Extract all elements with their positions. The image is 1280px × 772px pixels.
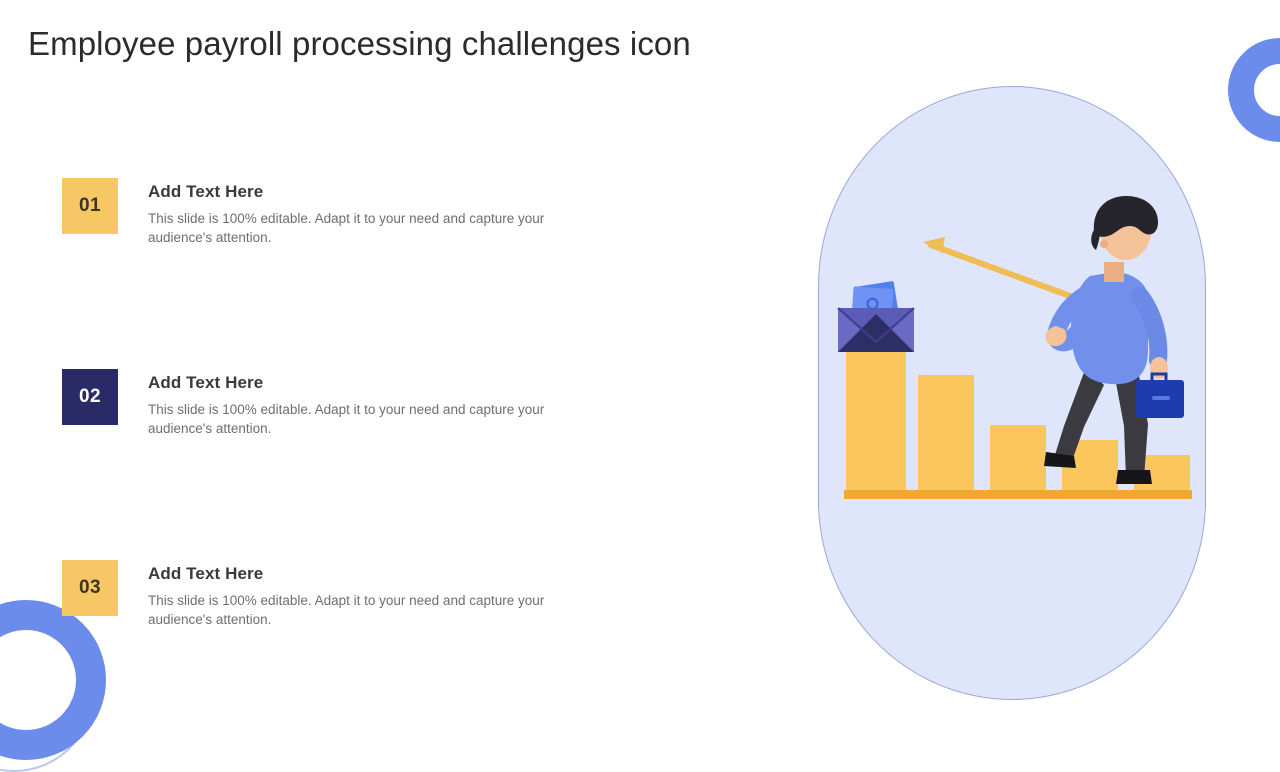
list-item-text: This slide is 100% editable. Adapt it to… xyxy=(148,210,580,247)
list-item-body: Add Text Here This slide is 100% editabl… xyxy=(148,560,580,629)
bullet-list: 01 Add Text Here This slide is 100% edit… xyxy=(62,178,622,629)
ring-decoration-top-right xyxy=(1228,38,1280,142)
illustration: $ xyxy=(818,86,1206,700)
list-item-heading: Add Text Here xyxy=(148,373,580,393)
briefcase-icon xyxy=(1136,374,1184,418)
money-envelope-icon: $ xyxy=(838,281,914,352)
list-item-body: Add Text Here This slide is 100% editabl… xyxy=(148,178,580,247)
list-item: 03 Add Text Here This slide is 100% edit… xyxy=(62,560,622,629)
list-item-text: This slide is 100% editable. Adapt it to… xyxy=(148,401,580,438)
badge-number-03: 03 xyxy=(62,560,118,616)
list-item-body: Add Text Here This slide is 100% editabl… xyxy=(148,369,580,438)
list-item-text: This slide is 100% editable. Adapt it to… xyxy=(148,592,580,629)
page-title: Employee payroll processing challenges i… xyxy=(28,22,691,66)
illustration-artwork: $ xyxy=(818,86,1206,700)
list-item: 01 Add Text Here This slide is 100% edit… xyxy=(62,178,622,247)
list-item-heading: Add Text Here xyxy=(148,564,580,584)
list-item: 02 Add Text Here This slide is 100% edit… xyxy=(62,369,622,438)
badge-number-01: 01 xyxy=(62,178,118,234)
badge-number-02: 02 xyxy=(62,369,118,425)
list-item-heading: Add Text Here xyxy=(148,182,580,202)
